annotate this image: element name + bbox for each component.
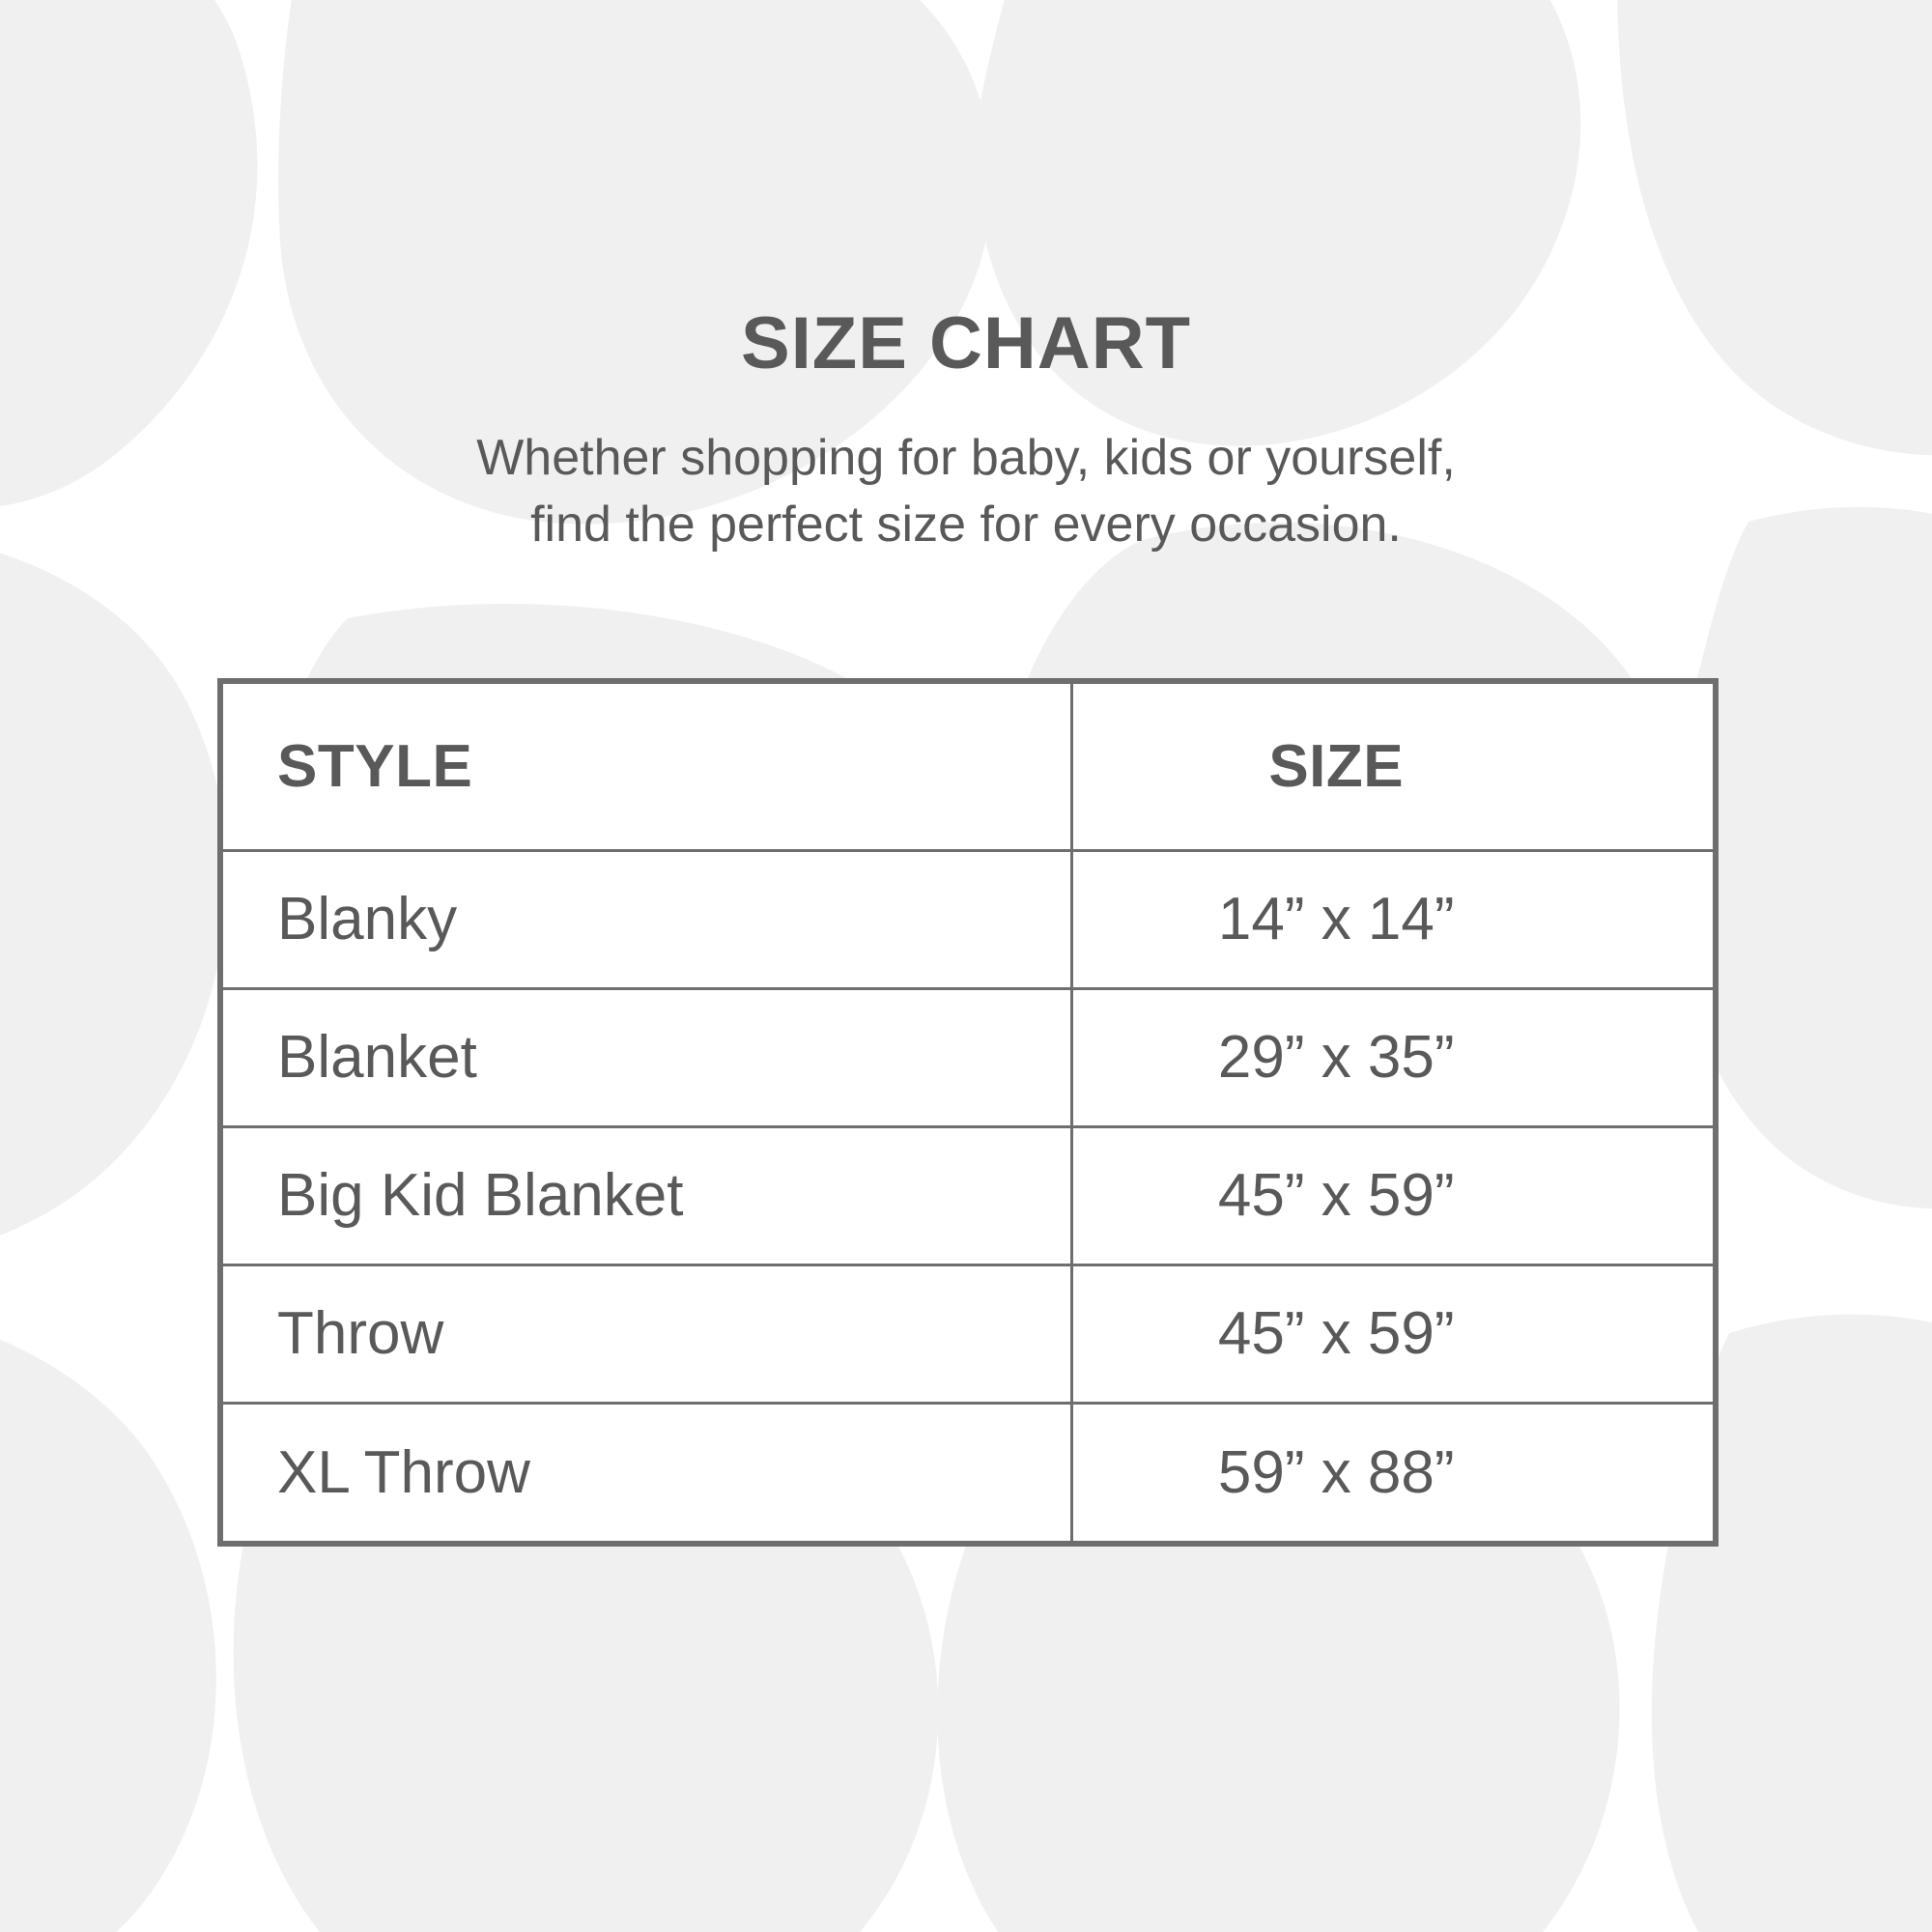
table-body: Blanky 14” x 14” Blanket 29” x 35” Big K… [223, 850, 1713, 1541]
subtitle-line-2: find the perfect size for every occasion… [0, 492, 1932, 558]
size-cell: 45” x 59” [1072, 1264, 1713, 1403]
style-cell: Throw [223, 1264, 1072, 1403]
table-row: Throw 45” x 59” [223, 1264, 1713, 1403]
size-chart-table: STYLE SIZE Blanky 14” x 14” Blanket 29” … [217, 678, 1719, 1547]
table-row: Blanket 29” x 35” [223, 988, 1713, 1126]
page-title: SIZE CHART [0, 307, 1932, 381]
table-row: Blanky 14” x 14” [223, 850, 1713, 988]
content-area: SIZE CHART Whether shopping for baby, ki… [0, 0, 1932, 1932]
size-cell: 29” x 35” [1072, 988, 1713, 1126]
table-header: STYLE SIZE [223, 684, 1713, 850]
size-chart-page: SIZE CHART Whether shopping for baby, ki… [0, 0, 1932, 1932]
subtitle-line-1: Whether shopping for baby, kids or yours… [0, 425, 1932, 492]
size-cell: 45” x 59” [1072, 1126, 1713, 1264]
size-cell: 59” x 88” [1072, 1403, 1713, 1541]
style-cell: Blanky [223, 850, 1072, 988]
style-cell: XL Throw [223, 1403, 1072, 1541]
table-row: XL Throw 59” x 88” [223, 1403, 1713, 1541]
column-header-size: SIZE [1072, 684, 1713, 850]
size-table-element: STYLE SIZE Blanky 14” x 14” Blanket 29” … [223, 684, 1713, 1541]
size-cell: 14” x 14” [1072, 850, 1713, 988]
style-cell: Big Kid Blanket [223, 1126, 1072, 1264]
style-cell: Blanket [223, 988, 1072, 1126]
table-header-row: STYLE SIZE [223, 684, 1713, 850]
table-row: Big Kid Blanket 45” x 59” [223, 1126, 1713, 1264]
column-header-style: STYLE [223, 684, 1072, 850]
page-subtitle: Whether shopping for baby, kids or yours… [0, 425, 1932, 557]
